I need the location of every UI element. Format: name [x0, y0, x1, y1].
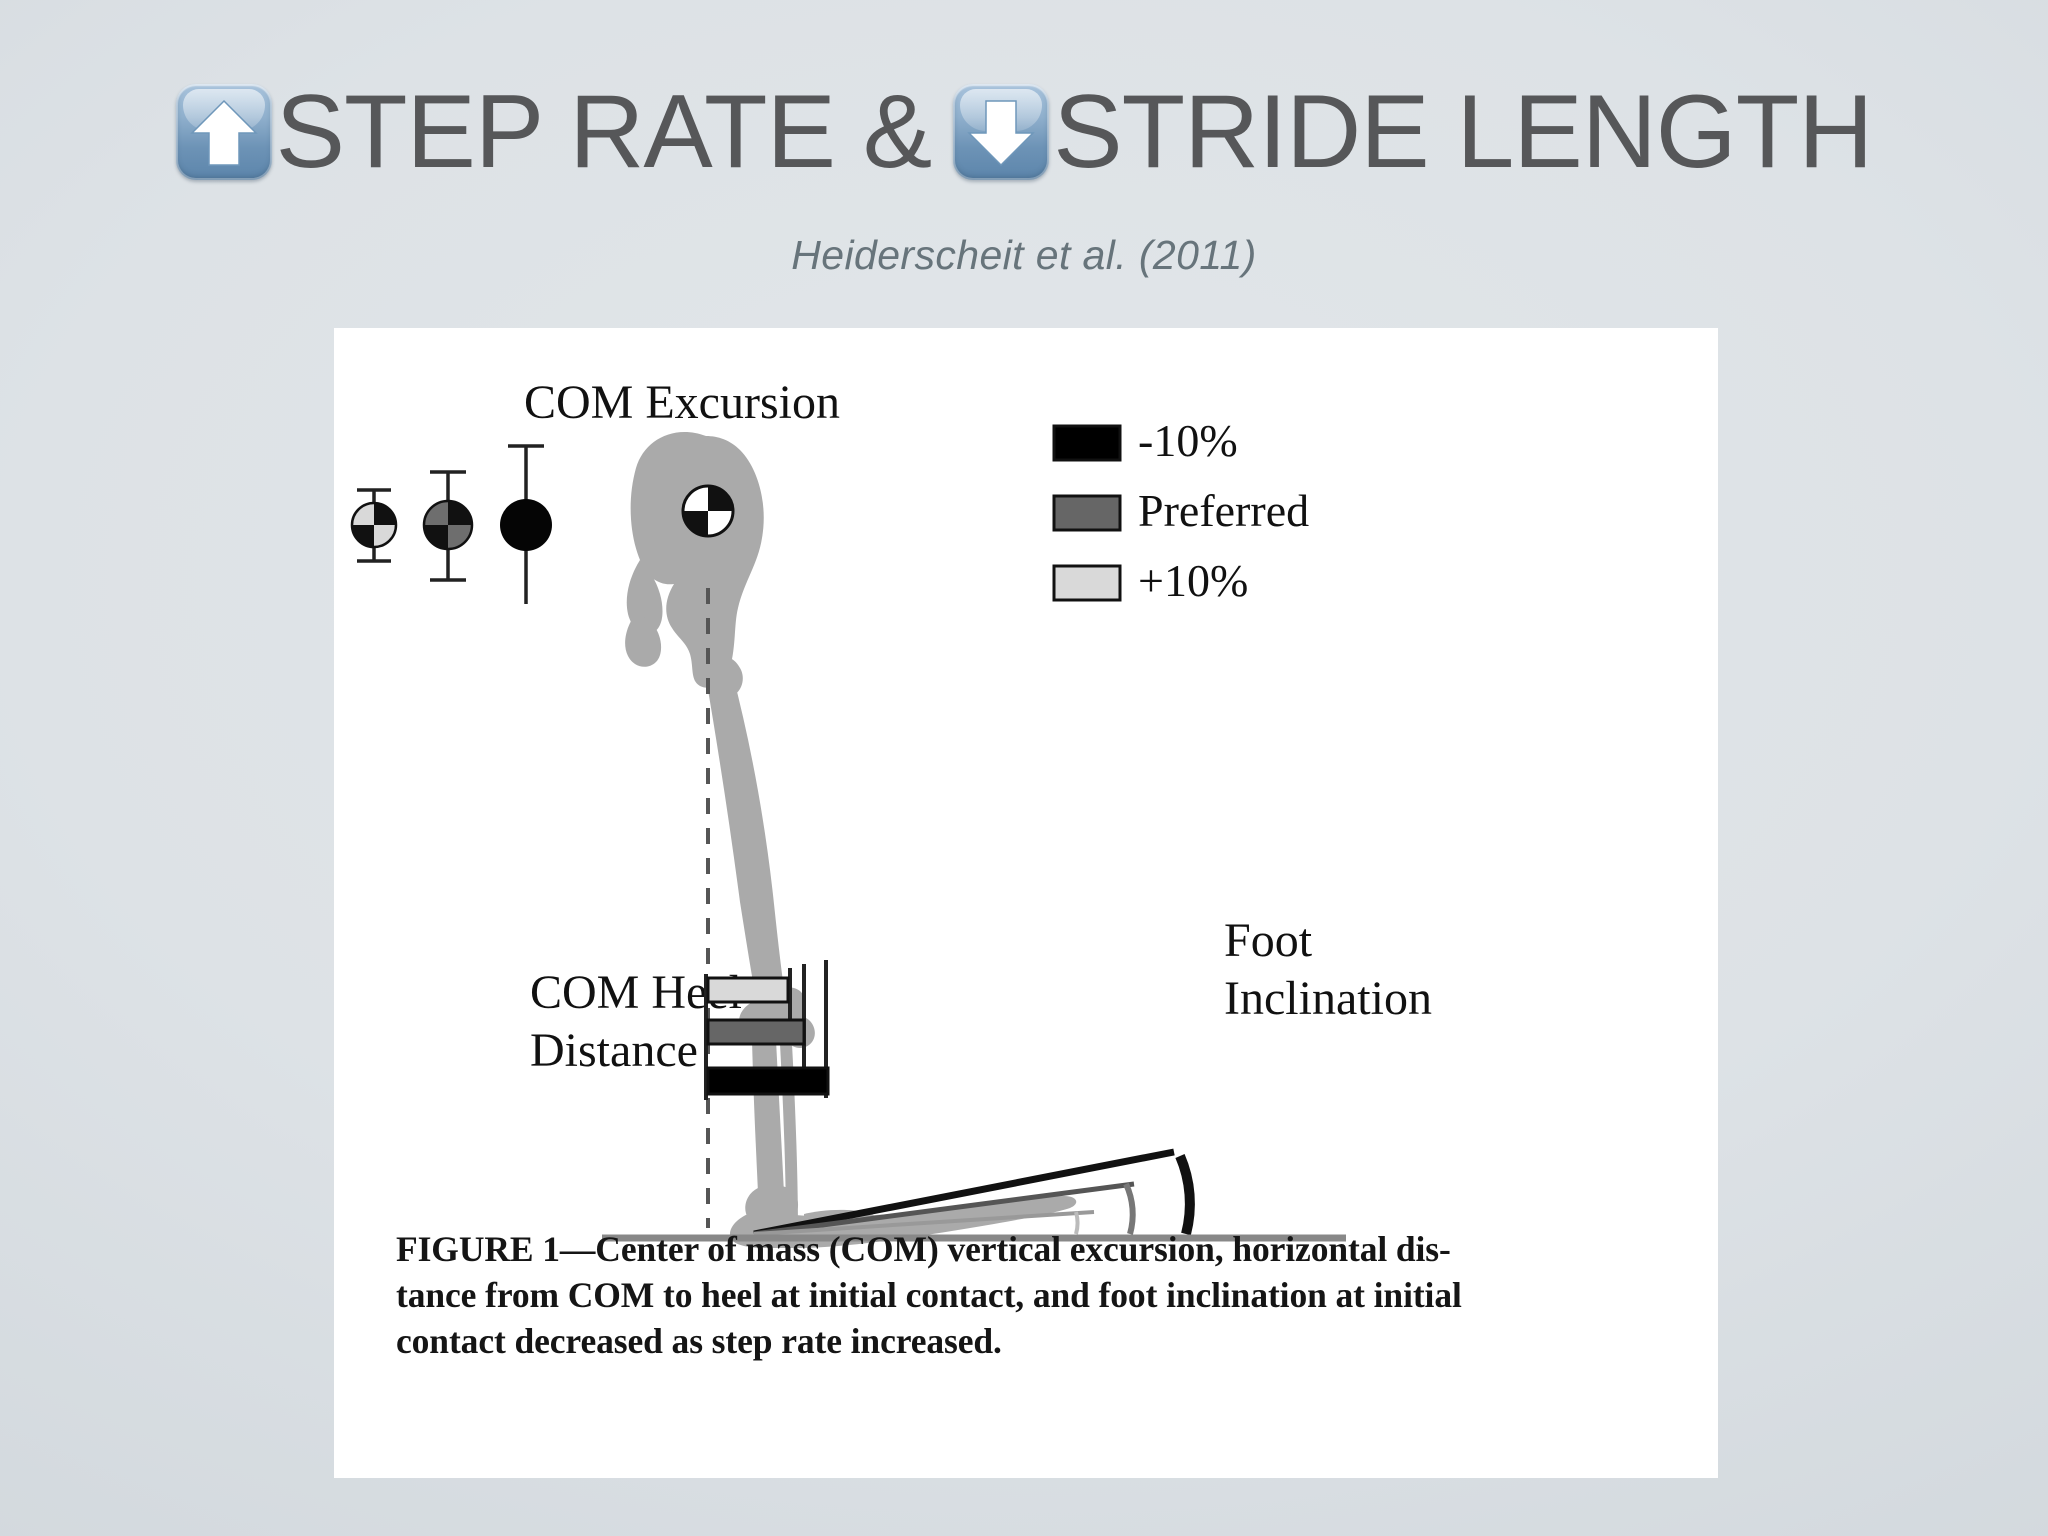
foot-inclination-angles [754, 1152, 1190, 1234]
incline-arc-minus10 [1180, 1156, 1190, 1234]
figure-legend: -10% Preferred +10% [1054, 415, 1309, 606]
caption-line-3: contact decreased as step rate increased… [396, 1318, 1656, 1364]
caption-line-1: FIGURE 1—Center of mass (COM) vertical e… [396, 1226, 1656, 1272]
skeleton-silhouette [625, 432, 1076, 1248]
com-excursion-label: COM Excursion [524, 376, 840, 429]
heel-bar-preferred [708, 1020, 804, 1044]
figure-caption: FIGURE 1—Center of mass (COM) vertical e… [334, 1226, 1718, 1364]
title-part-1: STEP RATE & [276, 80, 932, 184]
com-excursion-marker-plus10 [352, 490, 396, 561]
subtitle-citation: Heiderscheit et al. (2011) [0, 232, 2048, 279]
legend-swatch-minus10 [1054, 426, 1120, 460]
title-part-2: STRIDE LENGTH [1053, 80, 1872, 184]
com-marker-pelvis [683, 486, 733, 536]
figure-diagram: COM Excursion [334, 328, 1718, 1248]
legend-swatch-plus10 [1054, 566, 1120, 600]
com-heel-distance-label-line2: Distance [530, 1024, 698, 1077]
foot-inclination-label-line2: Inclination [1224, 972, 1432, 1025]
slide-title: STEP RATE & STRIDE LENGTH [0, 62, 2048, 202]
caption-line-2: tance from COM to heel at initial contac… [396, 1272, 1656, 1318]
heel-bar-plus10 [708, 978, 788, 1002]
figure-panel: COM Excursion [334, 328, 1718, 1478]
heel-bar-minus10 [708, 1068, 828, 1094]
legend-swatch-preferred [1054, 496, 1120, 530]
arrow-up-icon [176, 84, 272, 180]
foot-inclination-label-line1: Foot [1224, 914, 1313, 967]
legend-label-preferred: Preferred [1138, 485, 1309, 536]
arrow-down-icon [953, 84, 1049, 180]
legend-label-plus10: +10% [1138, 555, 1248, 606]
com-excursion-marker-preferred [424, 472, 472, 580]
legend-label-minus10: -10% [1138, 415, 1238, 466]
com-excursion-marker-minus10 [500, 446, 552, 604]
